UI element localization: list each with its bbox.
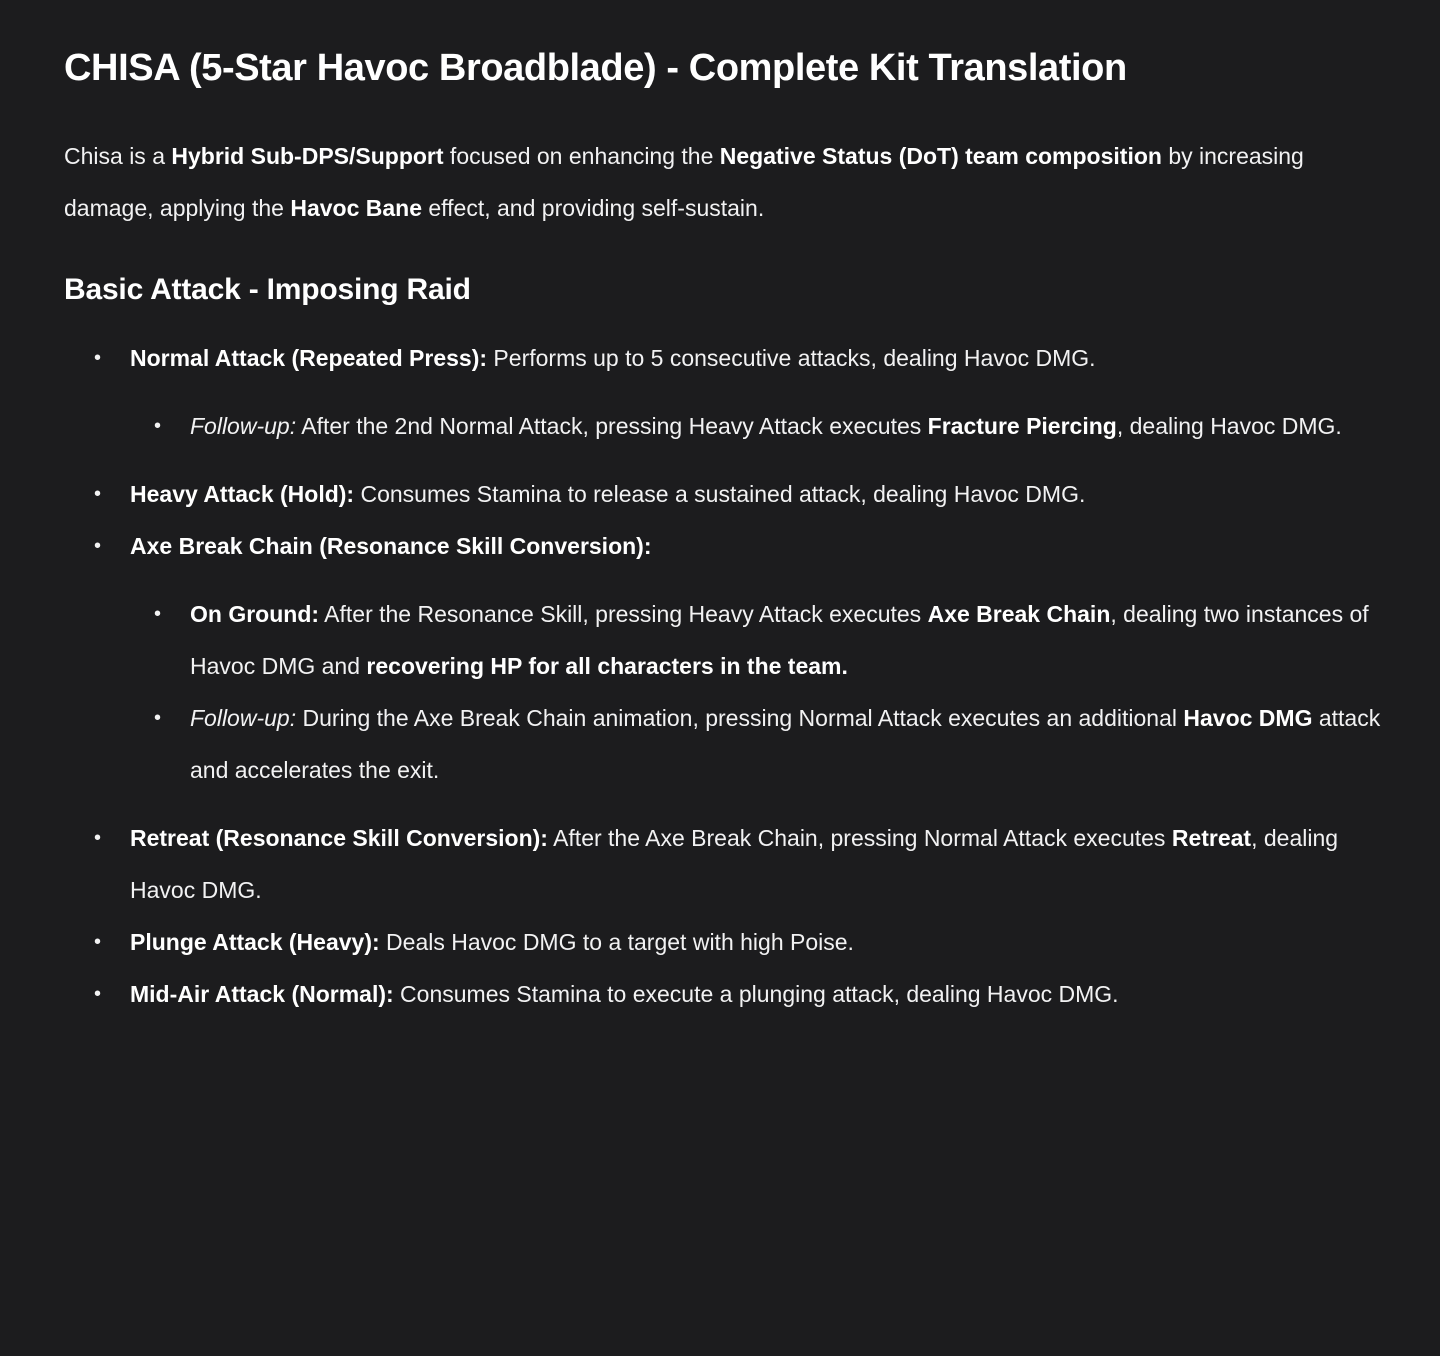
- intro-text-2: focused on enhancing the: [444, 143, 720, 169]
- list-item-on-ground: On Ground: After the Resonance Skill, pr…: [130, 588, 1390, 692]
- list-item-normal-attack: Normal Attack (Repeated Press): Performs…: [64, 332, 1390, 452]
- bullet-body-heavy-attack: Consumes Stamina to release a sustained …: [354, 481, 1085, 507]
- list-item-plunge-attack: Plunge Attack (Heavy): Deals Havoc DMG t…: [64, 916, 1390, 968]
- intro-text-1: Chisa is a: [64, 143, 171, 169]
- intro-bold-team-comp: Negative Status (DoT) team composition: [720, 143, 1162, 169]
- bullet-body-mid-air-attack: Consumes Stamina to execute a plunging a…: [394, 981, 1119, 1007]
- bullet-label-normal-attack: Normal Attack (Repeated Press):: [130, 345, 487, 371]
- intro-text-4: effect, and providing self-sustain.: [422, 195, 764, 221]
- list-item-normal-attack-followup: Follow-up: After the 2nd Normal Attack, …: [130, 400, 1390, 452]
- bullet-body-followup2-a: During the Axe Break Chain animation, pr…: [296, 705, 1183, 731]
- bullet-label-heavy-attack: Heavy Attack (Hold):: [130, 481, 354, 507]
- bullet-label-on-ground: On Ground:: [190, 601, 319, 627]
- intro-paragraph: Chisa is a Hybrid Sub-DPS/Support focuse…: [64, 130, 1390, 234]
- list-item-mid-air-attack: Mid-Air Attack (Normal): Consumes Stamin…: [64, 968, 1390, 1020]
- section-heading-basic-attack: Basic Attack - Imposing Raid: [64, 270, 1390, 310]
- document-page: CHISA (5-Star Havoc Broadblade) - Comple…: [0, 0, 1440, 1356]
- list-item-retreat: Retreat (Resonance Skill Conversion): Af…: [64, 812, 1390, 916]
- bullet-label-followup: Follow-up:: [190, 413, 296, 439]
- bullet-bold-retreat: Retreat: [1172, 825, 1251, 851]
- list-item-heavy-attack: Heavy Attack (Hold): Consumes Stamina to…: [64, 468, 1390, 520]
- sub-list-normal-attack: Follow-up: After the 2nd Normal Attack, …: [130, 400, 1390, 452]
- bullet-body-on-ground-a: After the Resonance Skill, pressing Heav…: [319, 601, 928, 627]
- bullet-bold-havoc-dmg: Havoc DMG: [1183, 705, 1312, 731]
- intro-bold-havoc-bane: Havoc Bane: [290, 195, 422, 221]
- bullet-body-followup-c: , dealing Havoc DMG.: [1117, 413, 1342, 439]
- bullet-label-mid-air-attack: Mid-Air Attack (Normal):: [130, 981, 394, 1007]
- basic-attack-bullet-list: Normal Attack (Repeated Press): Performs…: [64, 332, 1390, 1020]
- bullet-label-retreat: Retreat (Resonance Skill Conversion):: [130, 825, 548, 851]
- list-item-axe-break-chain-followup: Follow-up: During the Axe Break Chain an…: [130, 692, 1390, 796]
- bullet-bold-recovering-hp: recovering HP for all characters in the …: [366, 653, 847, 679]
- bullet-body-followup-a: After the 2nd Normal Attack, pressing He…: [296, 413, 928, 439]
- bullet-label-followup-2: Follow-up:: [190, 705, 296, 731]
- page-title: CHISA (5-Star Havoc Broadblade) - Comple…: [64, 44, 1390, 92]
- list-item-axe-break-chain: Axe Break Chain (Resonance Skill Convers…: [64, 520, 1390, 796]
- bullet-bold-axe-break-chain: Axe Break Chain: [928, 601, 1111, 627]
- intro-bold-hybrid-role: Hybrid Sub-DPS/Support: [171, 143, 443, 169]
- bullet-body-plunge-attack: Deals Havoc DMG to a target with high Po…: [380, 929, 854, 955]
- bullet-body-retreat-a: After the Axe Break Chain, pressing Norm…: [548, 825, 1172, 851]
- sub-list-axe-break-chain: On Ground: After the Resonance Skill, pr…: [130, 588, 1390, 796]
- bullet-label-axe-break-chain: Axe Break Chain (Resonance Skill Convers…: [130, 533, 652, 559]
- bullet-label-plunge-attack: Plunge Attack (Heavy):: [130, 929, 380, 955]
- bullet-body-normal-attack: Performs up to 5 consecutive attacks, de…: [487, 345, 1096, 371]
- bullet-bold-fracture-piercing: Fracture Piercing: [928, 413, 1117, 439]
